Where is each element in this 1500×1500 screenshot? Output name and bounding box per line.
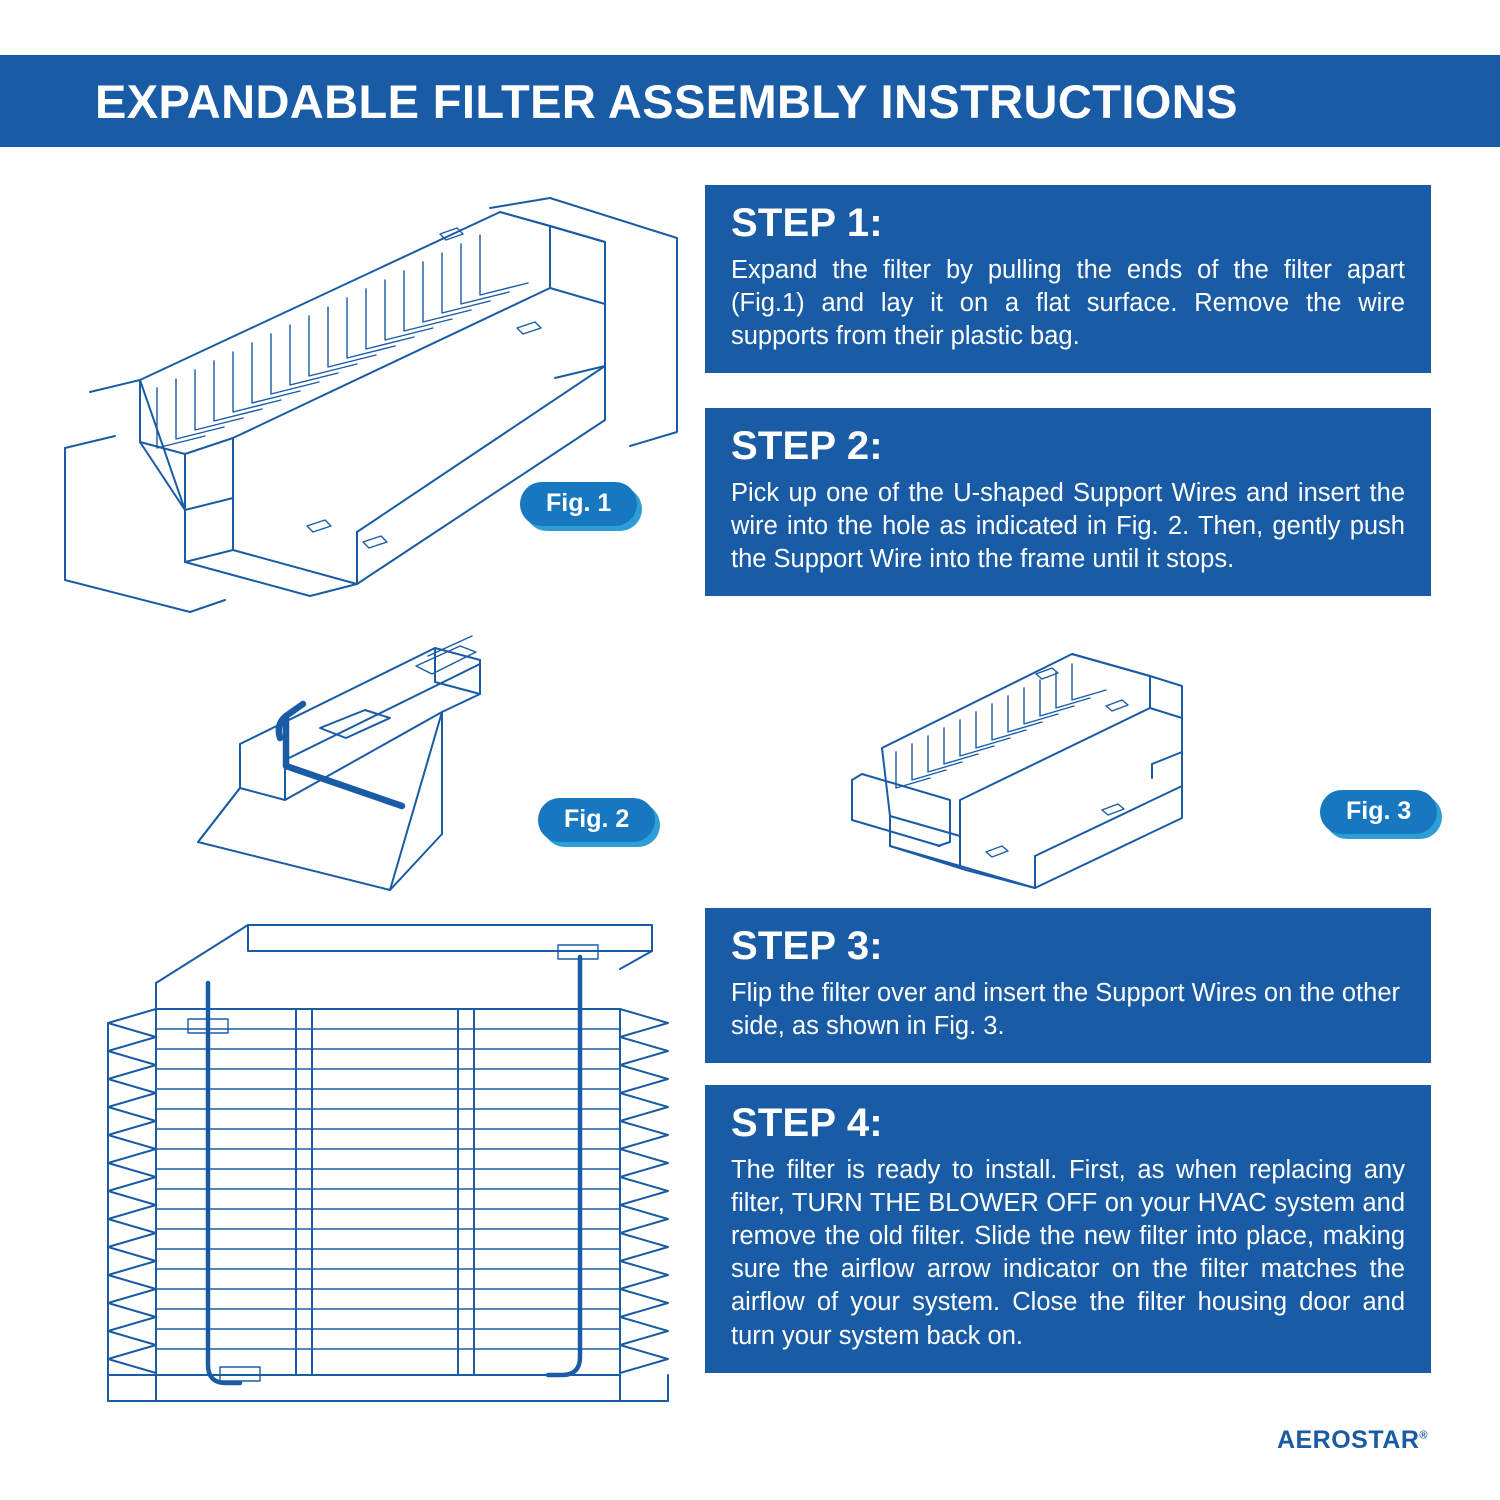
step-1-title: STEP 1: (731, 201, 1405, 246)
step-2-card: STEP 2: Pick up one of the U-shaped Supp… (705, 408, 1431, 596)
step-4-body: The filter is ready to install. First, a… (731, 1154, 1405, 1353)
brand-name: AEROSTAR (1277, 1426, 1419, 1454)
assembled-filter-svg (60, 905, 680, 1425)
instruction-sheet-page: EXPANDABLE FILTER ASSEMBLY INSTRUCTIONS (0, 0, 1500, 1500)
step-1-card: STEP 1: Expand the filter by pulling the… (705, 185, 1431, 373)
step-1-body: Expand the filter by pulling the ends of… (731, 254, 1405, 353)
step-3-title: STEP 3: (731, 924, 1405, 969)
header-banner: EXPANDABLE FILTER ASSEMBLY INSTRUCTIONS (0, 55, 1500, 147)
step-2-body: Pick up one of the U-shaped Support Wire… (731, 477, 1405, 576)
figure-2-drawing (180, 620, 600, 915)
figure-3-drawing (830, 630, 1250, 915)
step-4-title: STEP 4: (731, 1101, 1405, 1146)
step-3-body: Flip the filter over and insert the Supp… (731, 977, 1405, 1043)
figure-1-label: Fig. 1 (520, 482, 637, 526)
step-2-title: STEP 2: (731, 424, 1405, 469)
figure-3-svg (830, 630, 1250, 910)
figure-1-drawing (45, 180, 685, 625)
assembled-filter-front-view-drawing (60, 905, 680, 1430)
aerostar-logo: AEROSTAR® (1277, 1426, 1428, 1455)
figure-2-label: Fig. 2 (538, 798, 655, 842)
figure-1-svg (45, 180, 685, 620)
step-4-card: STEP 4: The filter is ready to install. … (705, 1085, 1431, 1373)
figure-3-label: Fig. 3 (1320, 790, 1437, 834)
page-title: EXPANDABLE FILTER ASSEMBLY INSTRUCTIONS (0, 74, 1238, 129)
registered-trademark-symbol: ® (1419, 1430, 1428, 1442)
step-3-card: STEP 3: Flip the filter over and insert … (705, 908, 1431, 1063)
figure-2-svg (180, 620, 600, 910)
